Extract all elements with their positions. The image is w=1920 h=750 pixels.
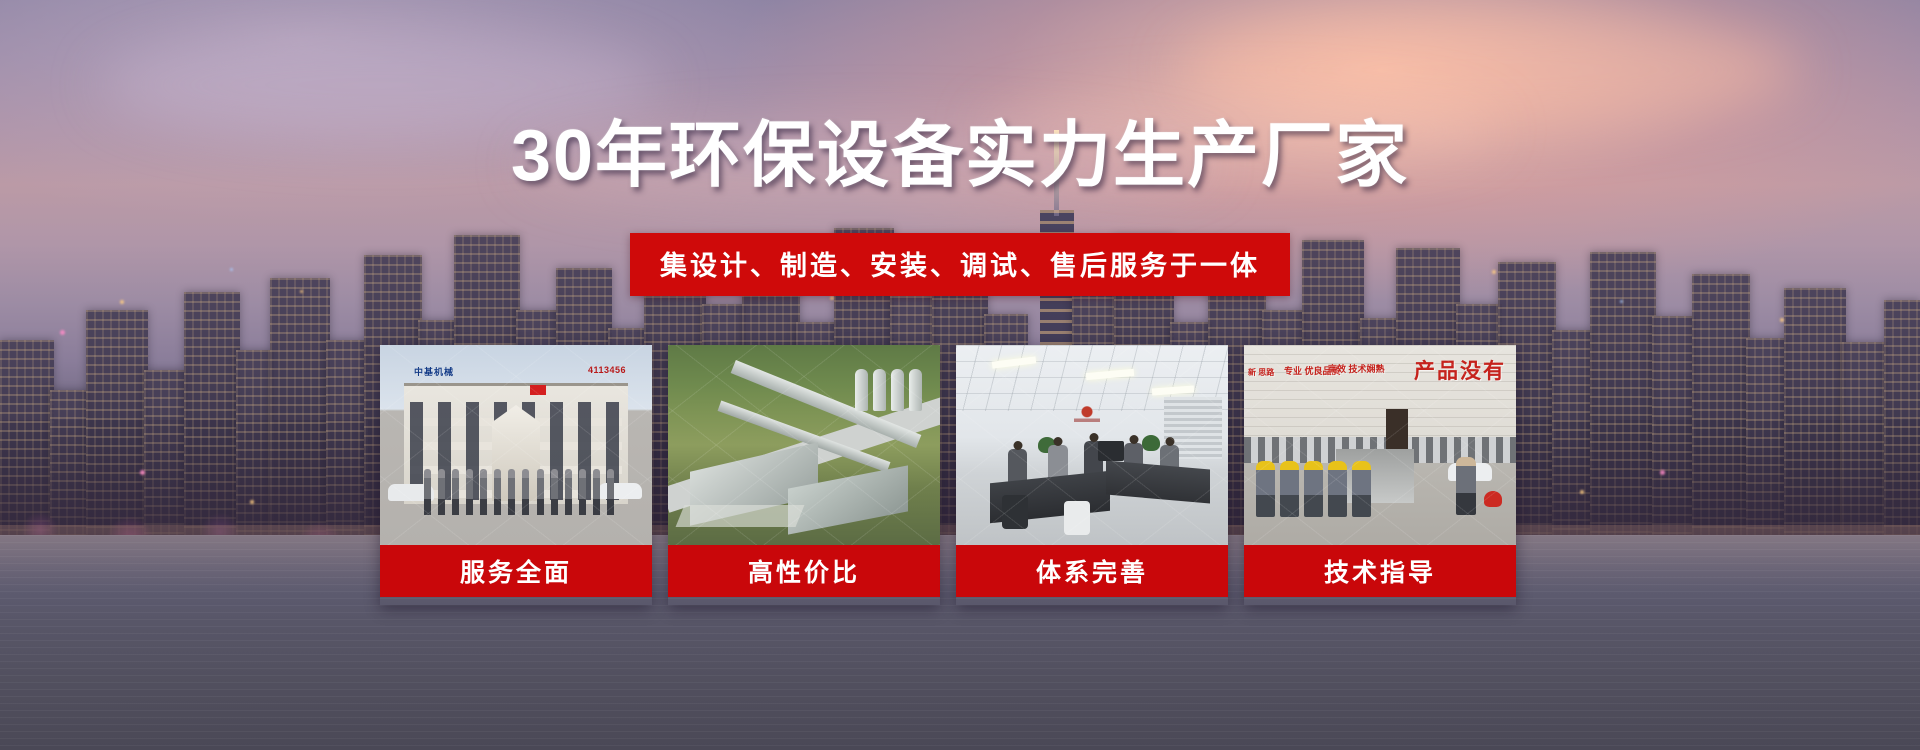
feature-card[interactable]: 体系完善: [956, 345, 1228, 605]
factory-sign-text: 产品没有: [1414, 355, 1506, 385]
staff-lineup: [424, 469, 614, 515]
chair-shape: [1002, 495, 1028, 529]
helmet-icon: [1484, 491, 1502, 507]
wall-emblem: [1074, 401, 1100, 431]
hero-banner: 30年环保设备实力生产厂家 集设计、制造、安装、调试、售后服务于一体 中基机械 …: [0, 0, 1920, 750]
office-interior-team-photo: [956, 345, 1228, 545]
monitor-shape: [1098, 441, 1124, 461]
silo-group: [855, 369, 922, 411]
subtitle-wrapper: 集设计、制造、安装、调试、售后服务于一体: [0, 233, 1920, 296]
yard-shape: [676, 505, 805, 527]
plant-shape: [1142, 435, 1160, 451]
card-caption: 高性价比: [668, 545, 940, 597]
phone-number-text: 4113456: [588, 365, 626, 375]
card-caption: 服务全面: [380, 545, 652, 597]
subtitle-banner: 集设计、制造、安装、调试、售后服务于一体: [630, 233, 1290, 296]
wall-slogan-text: 高效 技术娴熟: [1328, 363, 1385, 375]
card-caption: 体系完善: [956, 545, 1228, 597]
wall-slogan-text: 新 思路: [1248, 367, 1274, 378]
aerial-factory-plant-photo: [668, 345, 940, 545]
desk-shape: [1106, 460, 1210, 503]
card-caption: 技术指导: [1244, 545, 1516, 597]
feature-card[interactable]: 中基机械 4113456 服务全面: [380, 345, 652, 605]
feature-card-list: 中基机械 4113456 服务全面: [380, 345, 1540, 605]
feature-card[interactable]: 高性价比: [668, 345, 940, 605]
factory-workers-training-photo: 新 思路 专业 优良品质 高效 技术娴熟 产品没有: [1244, 345, 1516, 545]
page-title: 30年环保设备实力生产厂家: [0, 120, 1920, 192]
office-building-staff-photo: 中基机械 4113456: [380, 345, 652, 545]
chair-shape: [1064, 501, 1090, 535]
doorway-shape: [1386, 409, 1408, 449]
flag-icon: [530, 385, 546, 395]
worker-lineup: [1256, 461, 1382, 517]
person-shape: [1456, 457, 1476, 515]
company-sign-text: 中基机械: [414, 365, 454, 378]
feature-card[interactable]: 新 思路 专业 优良品质 高效 技术娴熟 产品没有 技术指导: [1244, 345, 1516, 605]
